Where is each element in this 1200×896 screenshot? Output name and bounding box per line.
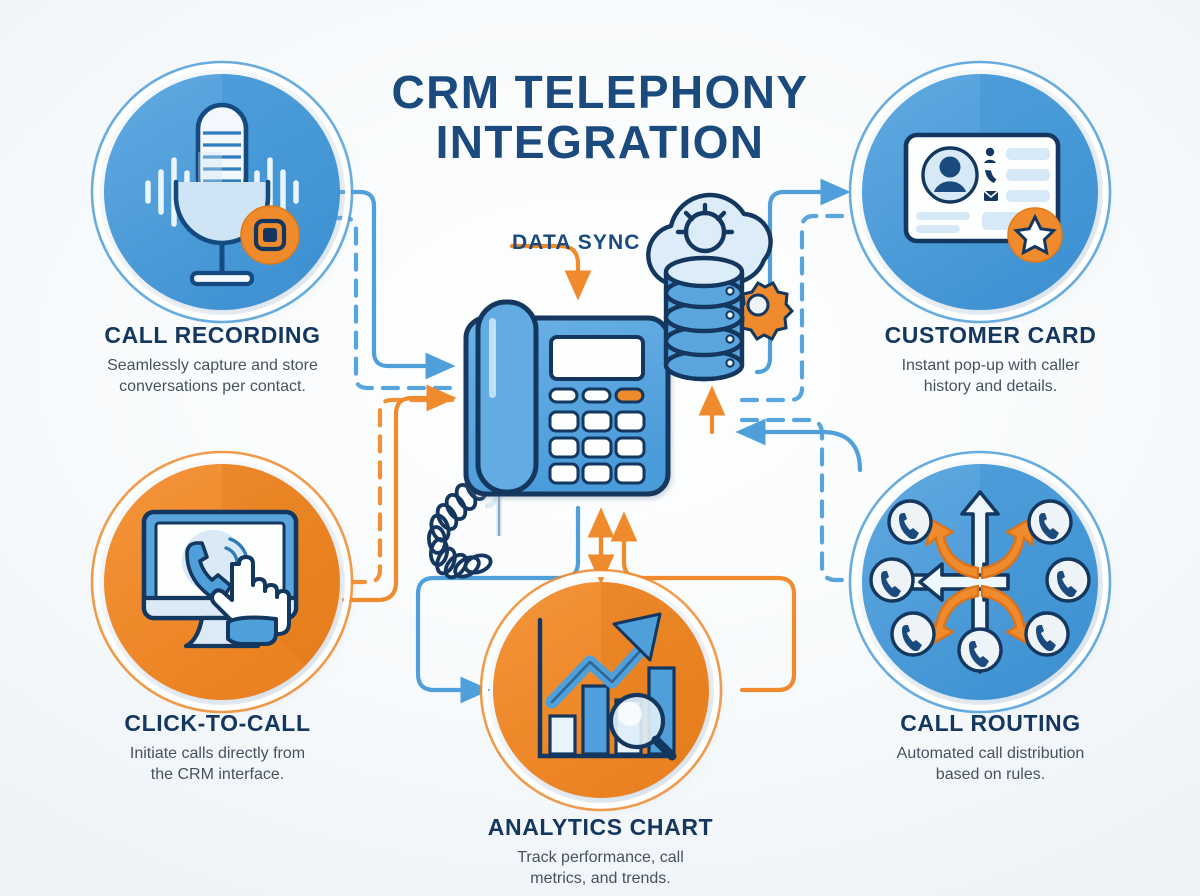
icon-layer [0, 0, 1200, 896]
contact-card-icon [906, 135, 1062, 262]
node-call-routing[interactable] [850, 452, 1110, 712]
infographic-canvas: CRM TELEPHONY INTEGRATION DATA SYNC CALL… [0, 0, 1200, 896]
chart-bar-2 [583, 686, 608, 754]
hub-desk-phone[interactable] [428, 302, 668, 581]
node-call-recording[interactable] [92, 62, 352, 322]
node-customer-card[interactable] [850, 62, 1110, 322]
node-analytics-chart[interactable] [481, 570, 721, 810]
node-click-to-call[interactable] [92, 452, 352, 712]
database-gear-icon [737, 283, 792, 339]
phone-softkey-2 [583, 389, 610, 402]
phone-softkey-1 [550, 389, 577, 402]
routing-arrows-icon [871, 492, 1089, 672]
phone-softkey-accent [616, 389, 643, 402]
phone-handset [478, 302, 536, 492]
phone-keypad[interactable] [550, 412, 644, 483]
hub-cloud-database[interactable] [648, 195, 792, 379]
chart-bar-1 [550, 716, 575, 754]
database-icon [666, 258, 792, 379]
